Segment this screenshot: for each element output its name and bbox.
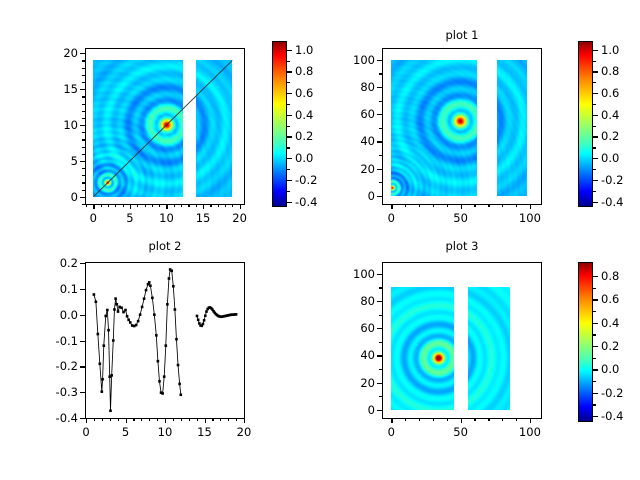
y-tick-minor (82, 147, 85, 148)
colorbar-tick (287, 93, 292, 94)
colorbar-tick-label: 0.2 (601, 339, 619, 353)
y-tick-minor (379, 315, 382, 316)
colorbar-tick-label: -0.2 (601, 386, 623, 400)
data-point-marker (135, 324, 138, 327)
data-point-marker (180, 393, 183, 396)
colorbar-tick-minor (593, 311, 596, 312)
colorbar-tick (287, 50, 292, 51)
y-tick (80, 197, 85, 198)
x-tick-minor (433, 204, 434, 207)
colorbar-tick-minor (287, 61, 290, 62)
data-point-marker (177, 364, 180, 367)
colorbar-tick (287, 202, 292, 203)
colorbar-tick (593, 393, 598, 394)
colorbar-tick (593, 180, 598, 181)
data-point-marker (202, 323, 205, 326)
data-point-marker (235, 313, 238, 316)
panel-title: plot 2 (85, 239, 245, 253)
x-tick-minor (516, 204, 517, 207)
x-tick-minor (232, 204, 233, 207)
line-path (94, 269, 181, 410)
x-tick-minor (210, 204, 211, 207)
colorbar-tick-label: 0.2 (601, 129, 619, 143)
x-tick-minor (102, 418, 103, 421)
y-tick-label: 0.0 (33, 308, 78, 322)
y-tick (80, 366, 85, 367)
x-tick-minor (228, 418, 229, 421)
x-tick (240, 204, 241, 209)
y-tick-label: 20 (33, 46, 78, 60)
colorbar-tick (287, 115, 292, 116)
x-tick-minor (181, 418, 182, 421)
colorbar-tick (593, 158, 598, 159)
data-point-marker (161, 392, 164, 395)
data-point-marker (114, 297, 117, 300)
colorbar-tick-label: -0.4 (295, 195, 317, 209)
x-tick (530, 204, 531, 209)
y-tick-minor (82, 60, 85, 61)
data-point-marker (205, 310, 208, 313)
x-tick-minor (196, 204, 197, 207)
data-point-marker (149, 284, 152, 287)
y-tick (80, 263, 85, 264)
data-point-marker (175, 338, 178, 341)
x-tick-minor (218, 204, 219, 207)
x-tick-minor (516, 418, 517, 421)
y-tick-label: 0 (330, 189, 375, 203)
y-tick-label: 60 (330, 321, 375, 335)
x-tick-minor (173, 418, 174, 421)
data-point-marker (95, 300, 98, 303)
data-region (391, 60, 477, 196)
y-tick (80, 53, 85, 54)
data-point-marker (110, 374, 113, 377)
data-point-marker (116, 303, 119, 306)
x-tick-label: 10 (159, 211, 174, 225)
colorbar-tick-minor (593, 61, 596, 62)
x-tick-minor (108, 204, 109, 207)
data-point-marker (163, 375, 166, 378)
y-tick-minor (379, 369, 382, 370)
data-point-marker (143, 297, 146, 300)
plot-area (382, 48, 542, 205)
x-tick-minor (145, 204, 146, 207)
colorbar-tick-minor (593, 82, 596, 83)
colorbar-tick-minor (593, 147, 596, 148)
data-point-marker (106, 309, 109, 312)
x-tick-minor (488, 204, 489, 207)
colorbar (272, 41, 287, 207)
data-point-marker (178, 383, 181, 386)
x-tick (461, 204, 462, 209)
x-tick (93, 204, 94, 209)
data-point-marker (104, 315, 107, 318)
x-tick-minor (110, 418, 111, 421)
x-tick-label: 0 (388, 425, 395, 439)
data-point-marker (137, 320, 140, 323)
x-tick-label: 0 (90, 211, 97, 225)
y-tick-minor (82, 118, 85, 119)
y-tick-minor (82, 68, 85, 69)
colorbar-tick-minor (287, 147, 290, 148)
data-point-marker (166, 303, 169, 306)
x-tick-label: 100 (519, 425, 541, 439)
colorbar-tick-minor (593, 169, 596, 170)
y-tick-minor (82, 75, 85, 76)
y-tick (377, 383, 382, 384)
x-tick-label: 0 (82, 425, 89, 439)
y-tick-label: 15 (33, 82, 78, 96)
data-point-marker (151, 297, 154, 300)
x-tick-minor (236, 418, 237, 421)
data-point-marker (204, 314, 207, 317)
y-tick (80, 161, 85, 162)
heatmap-canvas (497, 60, 527, 196)
y-tick (80, 392, 85, 393)
x-tick-minor (447, 204, 448, 207)
x-tick (86, 418, 87, 423)
x-tick-label: 100 (519, 211, 541, 225)
y-tick (377, 169, 382, 170)
x-tick-minor (447, 418, 448, 421)
data-point-marker (93, 293, 96, 296)
y-tick-label: -0.3 (33, 385, 78, 399)
x-tick-label: 5 (126, 211, 133, 225)
y-tick-label: 0 (330, 403, 375, 417)
y-tick-minor (379, 287, 382, 288)
x-tick-minor (189, 418, 190, 421)
x-tick-minor (157, 418, 158, 421)
x-tick (391, 204, 392, 209)
data-point-marker (153, 313, 156, 316)
colorbar-tick-label: 0.6 (601, 292, 619, 306)
y-tick (377, 87, 382, 88)
data-point-marker (124, 309, 127, 312)
x-tick-minor (123, 204, 124, 207)
y-tick-minor (82, 132, 85, 133)
colorbar-tick (593, 299, 598, 300)
colorbar-tick-label: -0.4 (601, 195, 623, 209)
colorbar-tick (593, 369, 598, 370)
x-tick-label: 0 (388, 211, 395, 225)
plot-area (85, 48, 245, 205)
x-tick-minor (220, 418, 221, 421)
colorbar (578, 262, 593, 422)
y-tick-label: 60 (330, 107, 375, 121)
data-point-marker (157, 360, 160, 363)
y-tick-minor (82, 168, 85, 169)
heatmap-canvas (468, 287, 511, 409)
x-tick-minor (133, 418, 134, 421)
x-tick-label: 15 (196, 211, 211, 225)
data-point-marker (196, 315, 199, 318)
colorbar-tick-label: 0.0 (601, 151, 619, 165)
x-tick-label: 5 (122, 425, 129, 439)
x-tick-minor (419, 418, 420, 421)
colorbar-tick-minor (287, 169, 290, 170)
y-tick-label: 0.1 (33, 282, 78, 296)
colorbar-tick-label: 1.0 (601, 43, 619, 57)
panel-title: plot 1 (382, 28, 542, 42)
data-point-marker (99, 362, 102, 365)
colorbar-tick (593, 202, 598, 203)
y-tick-label: 100 (330, 53, 375, 67)
data-point-marker (139, 313, 142, 316)
y-tick-minor (82, 182, 85, 183)
data-point-marker (113, 308, 116, 311)
x-tick-minor (115, 204, 116, 207)
x-tick (166, 204, 167, 209)
colorbar-tick-label: 0.2 (295, 129, 313, 143)
y-tick-label: 100 (330, 267, 375, 281)
y-tick-label: 40 (330, 348, 375, 362)
y-tick (80, 89, 85, 90)
x-tick-minor (159, 204, 160, 207)
x-tick (130, 204, 131, 209)
x-tick-minor (474, 418, 475, 421)
colorbar-tick (287, 180, 292, 181)
x-tick-minor (181, 204, 182, 207)
data-point-marker (148, 281, 151, 284)
data-point-marker (109, 409, 112, 412)
y-tick (80, 341, 85, 342)
y-tick-label: 0 (33, 190, 78, 204)
y-tick-label: -0.1 (33, 334, 78, 348)
y-tick-minor (82, 96, 85, 97)
y-tick-label: 0.2 (33, 256, 78, 270)
colorbar-tick (593, 416, 598, 417)
colorbar-tick (287, 158, 292, 159)
data-point-marker (117, 310, 120, 313)
y-tick-label: 40 (330, 134, 375, 148)
y-tick-minor (82, 204, 85, 205)
x-tick-minor (405, 204, 406, 207)
x-tick-minor (502, 204, 503, 207)
data-point-marker (158, 380, 161, 383)
y-tick (377, 141, 382, 142)
y-tick-minor (379, 182, 382, 183)
data-point-marker (155, 334, 158, 337)
colorbar-tick (593, 276, 598, 277)
data-point-marker (164, 344, 167, 347)
x-tick-minor (474, 204, 475, 207)
data-region (391, 287, 453, 409)
colorbar-tick (593, 50, 598, 51)
y-tick (80, 125, 85, 126)
x-tick-minor (101, 204, 102, 207)
figure-canvas: 05101520051015201.00.80.60.40.20.0-0.2-0… (0, 0, 640, 480)
line-series-group (86, 263, 244, 418)
x-tick (165, 418, 166, 423)
data-point-marker (107, 329, 110, 332)
y-tick-minor (82, 111, 85, 112)
x-tick-label: 20 (232, 211, 247, 225)
x-tick-minor (86, 204, 87, 207)
y-tick (377, 60, 382, 61)
colorbar-tick-minor (287, 104, 290, 105)
data-point-marker (170, 269, 173, 272)
x-tick (205, 418, 206, 423)
colorbar-tick-label: 0.0 (295, 151, 313, 165)
colorbar-tick (593, 323, 598, 324)
y-tick (377, 196, 382, 197)
y-tick (80, 418, 85, 419)
colorbar-tick-label: 0.6 (295, 86, 313, 100)
x-tick (244, 418, 245, 423)
data-point-marker (101, 378, 104, 381)
x-tick-minor (212, 418, 213, 421)
y-tick (377, 410, 382, 411)
data-point-marker (168, 277, 171, 280)
colorbar-tick-label: -0.2 (295, 173, 317, 187)
y-tick-minor (379, 342, 382, 343)
x-tick (126, 418, 127, 423)
heatmap-canvas (391, 60, 477, 196)
y-tick (377, 274, 382, 275)
y-tick-label: -0.4 (33, 411, 78, 425)
x-tick-minor (174, 204, 175, 207)
colorbar-tick-minor (593, 104, 596, 105)
colorbar-tick (593, 93, 598, 94)
data-point-marker (126, 315, 129, 318)
x-tick-minor (188, 204, 189, 207)
y-tick-minor (82, 104, 85, 105)
colorbar-tick-minor (593, 191, 596, 192)
x-tick-minor (405, 418, 406, 421)
colorbar-tick-label: -0.2 (601, 173, 623, 187)
colorbar-tick-minor (287, 82, 290, 83)
plot-area (382, 262, 542, 419)
colorbar-tick-label: 0.0 (601, 362, 619, 376)
x-tick-minor (149, 418, 150, 421)
colorbar-tick-minor (593, 358, 596, 359)
data-point-marker (112, 339, 115, 342)
colorbar-tick-minor (593, 381, 596, 382)
colorbar-tick-label: 0.8 (601, 269, 619, 283)
y-tick-minor (82, 154, 85, 155)
colorbar-tick (593, 346, 598, 347)
x-tick-minor (225, 204, 226, 207)
y-tick-minor (379, 155, 382, 156)
heatmap-canvas (391, 287, 453, 409)
y-tick-label: 20 (330, 376, 375, 390)
x-tick (391, 418, 392, 423)
y-tick-minor (82, 175, 85, 176)
data-region (497, 60, 527, 196)
data-point-marker (145, 289, 148, 292)
colorbar-tick-minor (593, 288, 596, 289)
colorbar-tick-label: 0.6 (601, 86, 619, 100)
x-tick (530, 418, 531, 423)
overlay-diagonal-line (86, 49, 244, 204)
y-tick-minor (379, 128, 382, 129)
y-tick (80, 289, 85, 290)
data-point-marker (141, 306, 144, 309)
x-tick-minor (118, 418, 119, 421)
y-tick-label: 80 (330, 80, 375, 94)
colorbar-tick-label: 0.4 (601, 108, 619, 122)
colorbar-tick (287, 136, 292, 137)
colorbar (578, 41, 593, 207)
colorbar-tick (593, 115, 598, 116)
panel-title: plot 3 (382, 239, 542, 253)
y-tick-minor (379, 396, 382, 397)
x-tick-label: 50 (453, 425, 468, 439)
data-point-marker (203, 319, 206, 322)
y-tick-label: -0.2 (33, 359, 78, 373)
data-point-marker (120, 306, 123, 309)
data-point-marker (129, 321, 132, 324)
data-point-marker (174, 308, 177, 311)
y-tick (80, 315, 85, 316)
y-tick-minor (379, 73, 382, 74)
colorbar-tick-label: 0.8 (601, 64, 619, 78)
colorbar-tick-label: 1.0 (295, 43, 313, 57)
data-point-marker (101, 390, 104, 393)
plot-area (85, 262, 245, 419)
x-tick-minor (502, 418, 503, 421)
x-tick (203, 204, 204, 209)
x-tick-minor (419, 204, 420, 207)
colorbar-tick-minor (593, 126, 596, 127)
y-tick (377, 328, 382, 329)
data-point-marker (172, 285, 175, 288)
colorbar-tick-minor (593, 404, 596, 405)
y-tick (377, 114, 382, 115)
x-tick-label: 10 (158, 425, 173, 439)
x-tick (461, 418, 462, 423)
y-tick-label: 5 (33, 154, 78, 168)
data-point-marker (127, 319, 130, 322)
x-tick-label: 20 (237, 425, 252, 439)
colorbar-tick-label: 0.4 (295, 108, 313, 122)
colorbar-tick (593, 71, 598, 72)
x-tick-label: 15 (197, 425, 212, 439)
x-tick-minor (141, 418, 142, 421)
y-tick-minor (82, 139, 85, 140)
x-tick-minor (197, 418, 198, 421)
y-tick (377, 355, 382, 356)
data-point-marker (197, 319, 200, 322)
colorbar-tick-minor (287, 191, 290, 192)
colorbar-tick (287, 71, 292, 72)
x-tick-minor (137, 204, 138, 207)
colorbar-tick-minor (593, 334, 596, 335)
y-tick (377, 301, 382, 302)
x-tick-label: 50 (453, 211, 468, 225)
x-tick-minor (152, 204, 153, 207)
data-point-marker (102, 344, 105, 347)
data-point-marker (97, 333, 100, 336)
x-tick-minor (94, 418, 95, 421)
y-tick-label: 80 (330, 294, 375, 308)
x-tick-minor (433, 418, 434, 421)
data-region (468, 287, 511, 409)
y-tick-label: 20 (330, 162, 375, 176)
y-tick-label: 10 (33, 118, 78, 132)
y-tick-minor (82, 190, 85, 191)
colorbar-tick-label: -0.4 (601, 409, 623, 423)
y-tick-minor (379, 101, 382, 102)
colorbar-tick-label: 0.4 (601, 316, 619, 330)
x-tick-minor (488, 418, 489, 421)
colorbar-tick-minor (287, 126, 290, 127)
y-tick-minor (82, 82, 85, 83)
colorbar-tick (593, 136, 598, 137)
colorbar-tick-label: 0.8 (295, 64, 313, 78)
